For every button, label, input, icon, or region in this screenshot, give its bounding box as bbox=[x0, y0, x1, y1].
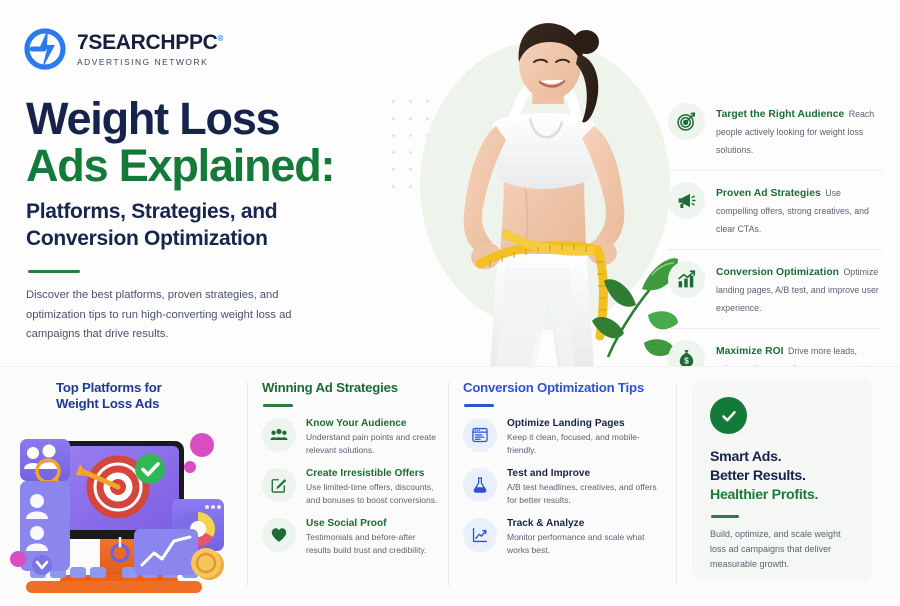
conversion-column: Conversion Optimization Tips Optimize La… bbox=[463, 367, 668, 601]
strategy-item-create-offers[interactable]: Create Irresistible Offers Use limited-t… bbox=[262, 468, 442, 507]
platforms-heading: Top Platforms for Weight Loss Ads bbox=[56, 380, 216, 413]
desktop-target-analytics-illustration bbox=[4, 419, 240, 601]
page-title-line1: Weight Loss bbox=[26, 96, 396, 142]
feature-list: Target the Right Audience Reach people a… bbox=[668, 92, 882, 389]
flask-icon bbox=[463, 468, 497, 502]
logo-tagline: ADVERTISING NETWORK bbox=[77, 57, 223, 67]
strategy-desc: Use limited-time offers, discounts, and … bbox=[306, 481, 442, 507]
page-subtitle-line1: Platforms, Strategies, and bbox=[26, 199, 396, 226]
column-divider bbox=[676, 381, 677, 587]
strategy-item-know-your-audience[interactable]: Know Your Audience Understand pain point… bbox=[262, 418, 442, 457]
conversion-item-landing-pages[interactable]: Optimize Landing Pages Keep it clean, fo… bbox=[463, 418, 668, 457]
conversion-desc: A/B test headlines, creatives, and offer… bbox=[507, 481, 668, 507]
conversion-item-test-improve[interactable]: Test and Improve A/B test headlines, cre… bbox=[463, 468, 668, 507]
conversion-title: Test and Improve bbox=[507, 468, 668, 479]
strategies-column: Winning Ad Strategies Know Your Audience… bbox=[262, 367, 442, 601]
feature-item-ad-strategies[interactable]: Proven Ad Strategies Use compelling offe… bbox=[668, 171, 882, 250]
feature-title: Maximize ROI bbox=[716, 346, 784, 357]
platforms-heading-line2: Weight Loss Ads bbox=[56, 396, 216, 412]
strategy-title: Use Social Proof bbox=[306, 518, 442, 529]
logo-wordmark: 7SEARCHPPC bbox=[77, 31, 218, 54]
platforms-heading-line1: Top Platforms for bbox=[56, 380, 216, 396]
conversion-desc: Monitor performance and scale what works… bbox=[507, 531, 668, 557]
cta-card[interactable]: Smart Ads. Better Results. Healthier Pro… bbox=[692, 379, 872, 581]
title-divider bbox=[28, 270, 80, 273]
people-group-icon bbox=[262, 418, 296, 452]
cta-divider bbox=[711, 515, 739, 518]
strategy-item-social-proof[interactable]: Use Social Proof Testimonials and before… bbox=[262, 518, 442, 557]
registered-mark: ® bbox=[218, 34, 224, 43]
conversion-title: Track & Analyze bbox=[507, 518, 668, 529]
headline-block: Weight Loss Ads Explained: Platforms, St… bbox=[26, 96, 396, 344]
heart-icon bbox=[262, 518, 296, 552]
feature-item-target-audience[interactable]: Target the Right Audience Reach people a… bbox=[668, 92, 882, 171]
cta-line3: Healthier Profits. bbox=[710, 486, 854, 505]
browser-window-icon bbox=[463, 418, 497, 452]
conversion-heading: Conversion Optimization Tips bbox=[463, 380, 668, 396]
bolt-circle-icon bbox=[22, 26, 68, 72]
svg-text:$: $ bbox=[684, 355, 689, 365]
green-leaves-decor bbox=[590, 245, 680, 360]
conversion-divider bbox=[464, 404, 494, 407]
bottom-section: Top Platforms for Weight Loss Ads bbox=[0, 366, 900, 600]
infographic-page: 7SEARCHPPC® ADVERTISING NETWORK Weight L… bbox=[0, 0, 900, 600]
hero-description: Discover the best platforms, proven stra… bbox=[26, 286, 294, 344]
column-divider bbox=[247, 381, 248, 587]
cta-line1: Smart Ads. bbox=[710, 448, 854, 467]
megaphone-icon bbox=[668, 182, 705, 219]
feature-title: Target the Right Audience bbox=[716, 109, 844, 120]
feature-title: Proven Ad Strategies bbox=[716, 188, 821, 199]
growth-chart-icon bbox=[668, 261, 705, 298]
cta-description: Build, optimize, and scale weight loss a… bbox=[710, 527, 854, 573]
feature-item-conversion-optimization[interactable]: Conversion Optimization Optimize landing… bbox=[668, 250, 882, 329]
strategy-desc: Testimonials and before-after results bu… bbox=[306, 531, 442, 557]
feature-title: Conversion Optimization bbox=[716, 267, 839, 278]
cta-line2: Better Results. bbox=[710, 467, 854, 486]
platforms-column: Top Platforms for Weight Loss Ads bbox=[0, 367, 247, 601]
conversion-item-track-analyze[interactable]: Track & Analyze Monitor performance and … bbox=[463, 518, 668, 557]
page-subtitle-line2: Conversion Optimization bbox=[26, 226, 396, 253]
strategies-heading: Winning Ad Strategies bbox=[262, 380, 442, 396]
strategies-divider bbox=[263, 404, 293, 407]
conversion-desc: Keep it clean, focused, and mobile-frien… bbox=[507, 431, 668, 457]
brand-logo[interactable]: 7SEARCHPPC® ADVERTISING NETWORK bbox=[22, 26, 223, 72]
column-divider bbox=[448, 381, 449, 587]
conversion-title: Optimize Landing Pages bbox=[507, 418, 668, 429]
hero-section: 7SEARCHPPC® ADVERTISING NETWORK Weight L… bbox=[0, 0, 900, 366]
strategy-title: Create Irresistible Offers bbox=[306, 468, 442, 479]
strategy-desc: Understand pain points and create releva… bbox=[306, 431, 442, 457]
strategy-title: Know Your Audience bbox=[306, 418, 442, 429]
page-title-line2: Ads Explained: bbox=[26, 142, 396, 191]
check-circle-icon bbox=[710, 397, 747, 434]
target-icon bbox=[668, 103, 705, 140]
line-chart-icon bbox=[463, 518, 497, 552]
pencil-edit-icon bbox=[262, 468, 296, 502]
